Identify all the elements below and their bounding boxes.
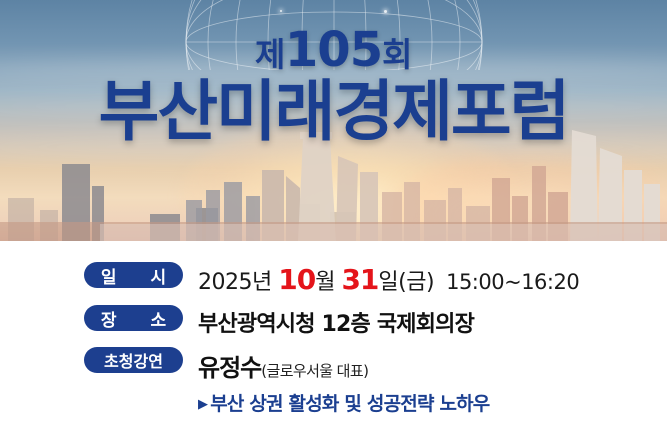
info-row-date: 일 시 2025년 10월 31일(금)15:00~16:20 [0, 262, 667, 296]
edition-number: 105 [285, 22, 382, 78]
label-invited-lecture: 초청강연 [84, 347, 183, 373]
datetime-value: 2025년 10월 31일(금)15:00~16:20 [198, 262, 579, 296]
edition-line: 제105회 [0, 26, 667, 74]
edition-prefix: 제 [255, 35, 285, 74]
label-datetime: 일 시 [84, 262, 183, 288]
hero-title-block: 제105회 부산미래경제포럼 [0, 0, 667, 147]
hero-banner: 제105회 부산미래경제포럼 [0, 0, 667, 241]
time-range: 15:00~16:20 [446, 270, 579, 294]
lecture-topic: ▶부산 상권 활성화 및 성공전략 노하우 [198, 389, 489, 416]
speaker-value: 유정수(글로우서울 대표) [198, 347, 368, 383]
month-unit: 월 [315, 270, 335, 295]
topic-text: 부산 상권 활성화 및 성공전략 노하우 [210, 393, 489, 415]
speaker-affiliation: (글로우서울 대표) [261, 362, 368, 380]
day-number: 31 [341, 263, 378, 296]
info-row-place: 장 소 부산광역시청 12층 국제회의장 [0, 305, 667, 338]
event-poster: 제105회 부산미래경제포럼 일 시 2025년 10월 31일(금)15:00… [0, 0, 667, 421]
forum-title: 부산미래경제포럼 [0, 78, 667, 147]
day-unit: 일(금) [378, 270, 434, 295]
info-section: 일 시 2025년 10월 31일(금)15:00~16:20 장 소 부산광역… [0, 241, 667, 421]
year-text: 2025년 [198, 270, 272, 295]
info-row-speaker: 초청강연 유정수(글로우서울 대표) [0, 347, 667, 383]
triangle-bullet-icon: ▶ [198, 397, 207, 412]
edition-suffix: 회 [382, 35, 412, 74]
place-value: 부산광역시청 12층 국제회의장 [198, 305, 474, 338]
speaker-name: 유정수 [198, 354, 261, 382]
month-number: 10 [278, 263, 315, 296]
label-place: 장 소 [84, 305, 183, 331]
